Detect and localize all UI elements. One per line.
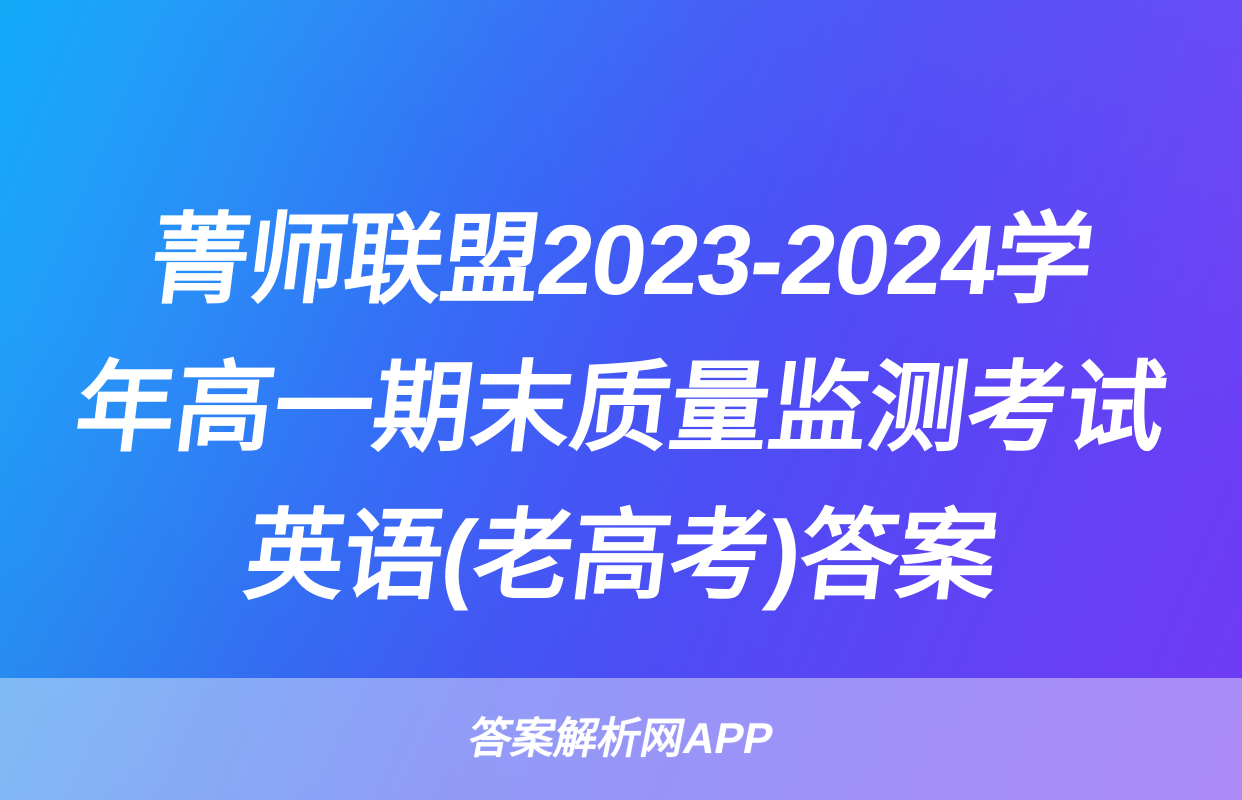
cover-title: 菁师联盟2023-2024学 年高一期末质量监测考试 英语(老高考)答案 [0,186,1242,630]
cover-image: 菁师联盟2023-2024学 年高一期末质量监测考试 英语(老高考)答案 答案解… [0,0,1242,800]
watermark-label: 答案解析网APP [465,718,777,761]
title-line-1: 菁师联盟2023-2024学 [17,186,1225,334]
watermark-band: 答案解析网APP [0,678,1242,800]
title-line-3: 英语(老高考)答案 [17,482,1225,630]
title-line-2: 年高一期末质量监测考试 [17,334,1225,482]
